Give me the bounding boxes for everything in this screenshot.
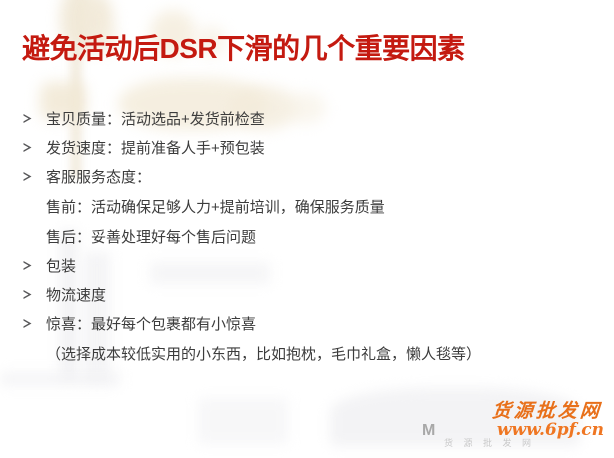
arrow-bullet-icon — [22, 141, 46, 154]
list-item-label: 惊喜：最好每个包裹都有小惊喜 — [46, 313, 256, 334]
slide-title: 避免活动后DSR下滑的几个重要因素 — [22, 34, 465, 65]
list-sub-item-label: 售前：活动确保足够人力+提前培训，确保服务质量 — [46, 196, 385, 217]
background-shape — [0, 372, 120, 386]
list-item-label: 客服服务态度： — [46, 166, 151, 187]
list-item: 包装 — [0, 251, 614, 280]
watermark-faded-text: 货 源 批 发 网 — [444, 436, 535, 449]
watermark-brand: 货源批发网 — [491, 396, 603, 423]
list-note: （选择成本较低实用的小东西，比如抱枕，毛巾礼盒，懒人毯等） — [0, 338, 614, 368]
background-shape — [330, 388, 580, 446]
watermark-ghost-prefix: M — [422, 422, 435, 440]
list-item-label: 包装 — [46, 255, 76, 276]
list-item: 物流速度 — [0, 280, 614, 309]
list-item: 发货速度：提前准备人手+预包装 — [0, 133, 614, 162]
arrow-bullet-icon — [22, 170, 46, 183]
watermark: 货 源 批 发 网 M 货源批发网 www.6pf.cn — [422, 396, 608, 452]
list-item-label: 发货速度：提前准备人手+预包装 — [46, 137, 265, 158]
list-item: 惊喜：最好每个包裹都有小惊喜 — [0, 309, 614, 338]
watermark-url: www.6pf.cn — [497, 420, 604, 440]
arrow-bullet-icon — [22, 317, 46, 330]
list-sub-item: 售后：妥善处理好每个售后问题 — [0, 221, 614, 251]
background-shape — [198, 398, 288, 444]
slide-canvas: 避免活动后DSR下滑的几个重要因素 宝贝质量：活动选品+发货前检查 发货速度：提… — [0, 0, 614, 458]
arrow-bullet-icon — [22, 259, 46, 272]
arrow-bullet-icon — [22, 288, 46, 301]
list-sub-item: 售前：活动确保足够人力+提前培训，确保服务质量 — [0, 191, 614, 221]
list-item: 客服服务态度： — [0, 162, 614, 191]
list-item: 宝贝质量：活动选品+发货前检查 — [0, 104, 614, 133]
list-note-label: （选择成本较低实用的小东西，比如抱枕，毛巾礼盒，懒人毯等） — [46, 343, 481, 364]
arrow-bullet-icon — [22, 112, 46, 125]
list-sub-item-label: 售后：妥善处理好每个售后问题 — [46, 226, 256, 247]
bullet-list: 宝贝质量：活动选品+发货前检查 发货速度：提前准备人手+预包装 客服服务态度： … — [0, 104, 614, 368]
list-item-label: 宝贝质量：活动选品+发货前检查 — [46, 108, 265, 129]
list-item-label: 物流速度 — [46, 284, 106, 305]
